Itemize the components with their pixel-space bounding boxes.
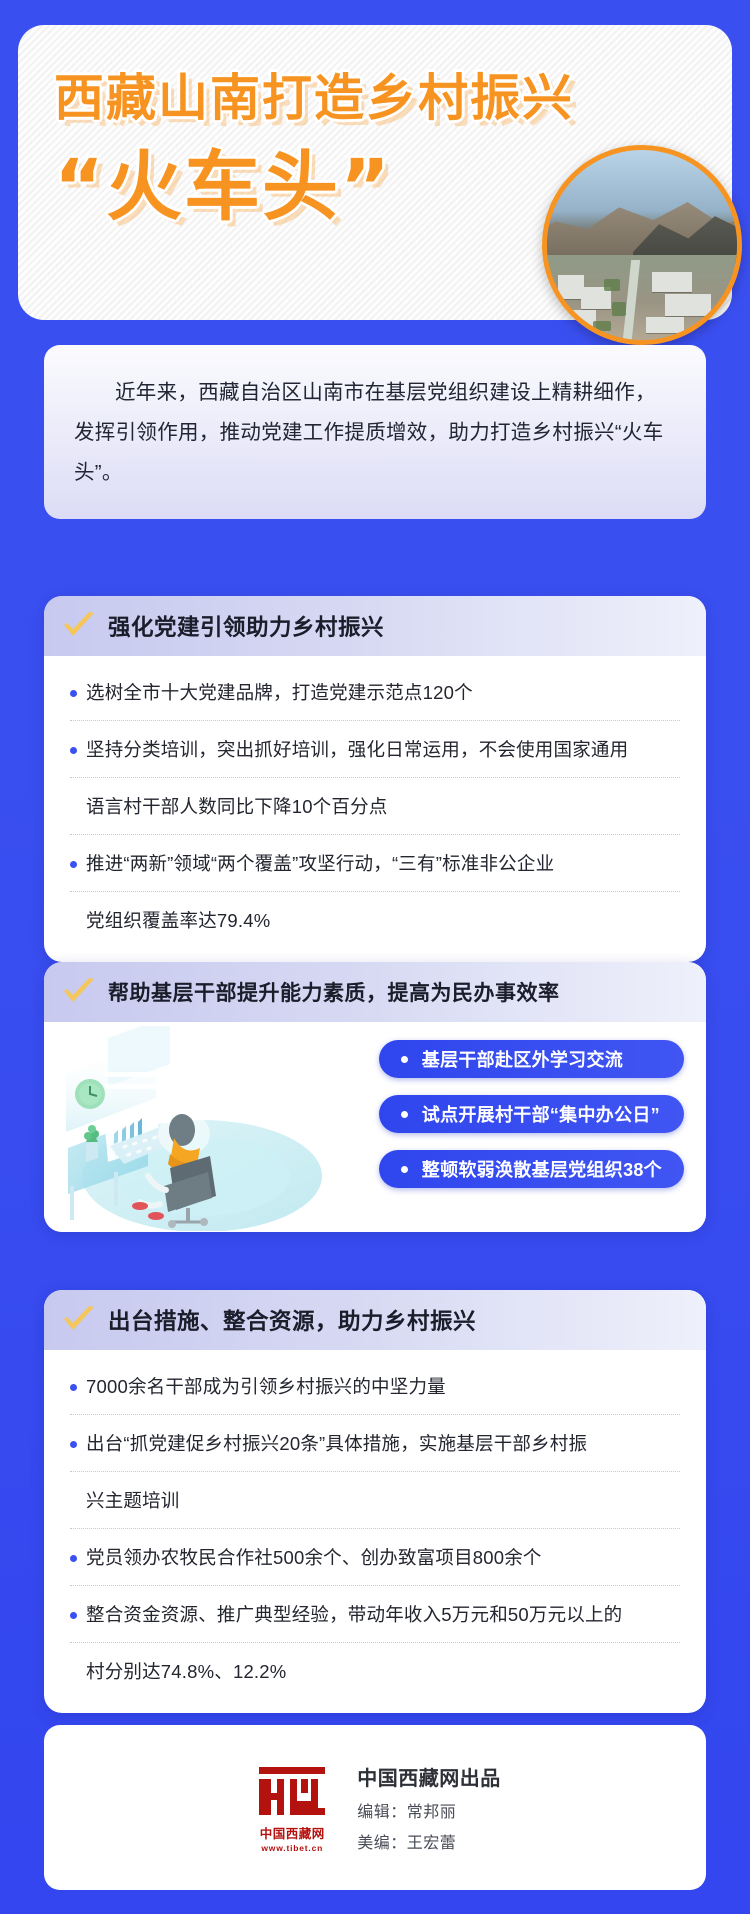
tree-shape: [604, 279, 620, 291]
section-3-header: 出台措施、整合资源，助力乡村振兴: [44, 1290, 706, 1350]
logo-mark-icon: [257, 1763, 327, 1819]
section-1-title: 强化党建引领助力乡村振兴: [108, 610, 384, 642]
section-2-pill-list: 基层干部赴区外学习交流 试点开展村干部“集中办公日” 整顿软弱涣散基层党组织38…: [379, 1040, 684, 1188]
bullet-text: 选树全市十大党建品牌，打造党建示范点120个: [86, 680, 473, 706]
bullet-item: 推进“两新”领域“两个覆盖”攻坚行动，“三有”标准非公企业: [70, 835, 680, 892]
bullet-text: 党组织覆盖率达79.4%: [86, 908, 270, 934]
checkmark-icon: [62, 978, 96, 1006]
section-2-header: 帮助基层干部提升能力素质，提高为民办事效率: [44, 962, 706, 1022]
bullet-text: 兴主题培训: [86, 1488, 180, 1514]
village-photo: [542, 145, 742, 345]
intro-paragraph: 近年来，西藏自治区山南市在基层党组织建设上精耕细作，发挥引领作用，推动党建工作提…: [74, 373, 676, 493]
logo-name-text: 中国西藏网: [249, 1823, 335, 1842]
tibet-net-logo: 中国西藏网 www.tibet.cn: [249, 1763, 335, 1853]
bullet-item: 坚持分类培训，突出抓好培训，强化日常运用，不会使用国家通用: [70, 721, 680, 778]
bullet-text: 党员领办农牧民合作社500余个、创办致富项目800余个: [86, 1545, 542, 1571]
bullet-item: 选树全市十大党建品牌，打造党建示范点120个: [70, 664, 680, 721]
bullet-text: 7000余名干部成为引领乡村振兴的中坚力量: [86, 1374, 446, 1400]
bullet-text: 坚持分类培训，突出抓好培训，强化日常运用，不会使用国家通用: [86, 737, 628, 763]
section-card-1: 强化党建引领助力乡村振兴 选树全市十大党建品牌，打造党建示范点120个 坚持分类…: [44, 596, 706, 962]
bullet-text: 推进“两新”领域“两个覆盖”攻坚行动，“三有”标准非公企业: [86, 851, 554, 877]
pill-dot-icon: [401, 1111, 408, 1118]
bullet-text: 整合资金资源、推广典型经验，带动年收入5万元和50万元以上的: [86, 1602, 622, 1628]
bullet-dot-icon: [70, 1384, 77, 1391]
tree-shape: [593, 321, 611, 331]
bullet-dot-icon: [70, 1555, 77, 1562]
bullet-dot-icon: [70, 861, 77, 868]
pill-dot-icon: [401, 1056, 408, 1063]
pill-item[interactable]: 整顿软弱涣散基层党组织38个: [379, 1150, 684, 1188]
bullet-item: 整合资金资源、推广典型经验，带动年收入5万元和50万元以上的: [70, 1586, 680, 1643]
section-1-body: 选树全市十大党建品牌，打造党建示范点120个 坚持分类培训，突出抓好培训，强化日…: [44, 656, 706, 962]
logo-glyph-icon: [257, 1763, 327, 1819]
pill-item[interactable]: 基层干部赴区外学习交流: [379, 1040, 684, 1078]
checkmark-icon: [62, 1306, 96, 1334]
pill-dot-icon: [401, 1166, 408, 1173]
bullet-item-continuation: 村分别达74.8%、12.2%: [70, 1643, 680, 1699]
logo-url-text: www.tibet.cn: [249, 1843, 335, 1853]
building-shape: [562, 310, 596, 328]
bullet-dot-icon: [70, 1612, 77, 1619]
section-3-title: 出台措施、整合资源，助力乡村振兴: [108, 1304, 476, 1336]
tree-shape: [612, 302, 626, 316]
section-card-2: 帮助基层干部提升能力素质，提高为民办事效率: [44, 962, 706, 1232]
bullet-dot-icon: [70, 1441, 77, 1448]
section-2-body: 基层干部赴区外学习交流 试点开展村干部“集中办公日” 整顿软弱涣散基层党组织38…: [44, 1022, 706, 1232]
bullet-dot-icon: [70, 690, 77, 697]
office-desk-worker-illustration: [52, 1026, 322, 1231]
infographic-poster: 西藏山南打造乡村振兴 “火车头” 近年来，西藏自治区山南市在基层党组织建设上精耕…: [0, 0, 750, 1914]
pill-label: 试点开展村干部“集中办公日”: [422, 1101, 660, 1127]
pill-label: 整顿软弱涣散基层党组织38个: [422, 1156, 662, 1182]
hero-title-line-1: 西藏山南打造乡村振兴: [54, 73, 614, 123]
intro-card: 近年来，西藏自治区山南市在基层党组织建设上精耕细作，发挥引领作用，推动党建工作提…: [44, 345, 706, 519]
hero-title-line-2: “火车头”: [54, 149, 614, 225]
bullet-item-continuation: 语言村干部人数同比下降10个百分点: [70, 778, 680, 835]
section-3-body: 7000余名干部成为引领乡村振兴的中坚力量 出台“抓党建促乡村振兴20条”具体措…: [44, 1350, 706, 1713]
checkmark-icon: [62, 612, 96, 640]
produced-by-text: 中国西藏网出品: [357, 1762, 501, 1791]
section-card-3: 出台措施、整合资源，助力乡村振兴 7000余名干部成为引领乡村振兴的中坚力量 出…: [44, 1290, 706, 1713]
bullet-item: 7000余名干部成为引领乡村振兴的中坚力量: [70, 1358, 680, 1415]
bullet-text: 出台“抓党建促乡村振兴20条”具体措施，实施基层干部乡村振: [86, 1431, 587, 1457]
footer-bar: 中国西藏网 www.tibet.cn 中国西藏网出品 编辑：常邦丽 美编：王宏蕾: [44, 1725, 706, 1890]
building-shape: [665, 294, 711, 316]
section-2-title: 帮助基层干部提升能力素质，提高为民办事效率: [108, 977, 560, 1007]
bullet-item: 出台“抓党建促乡村振兴20条”具体措施，实施基层干部乡村振: [70, 1415, 680, 1472]
pill-item[interactable]: 试点开展村干部“集中办公日”: [379, 1095, 684, 1133]
bullet-dot-icon: [70, 747, 77, 754]
editor-text: 编辑：常邦丽: [357, 1798, 501, 1822]
bullet-text: 村分别达74.8%、12.2%: [86, 1659, 286, 1685]
designer-text: 美编：王宏蕾: [357, 1829, 501, 1853]
section-1-header: 强化党建引领助力乡村振兴: [44, 596, 706, 656]
building-shape: [652, 272, 692, 292]
pill-label: 基层干部赴区外学习交流: [422, 1046, 623, 1072]
bullet-text: 语言村干部人数同比下降10个百分点: [86, 794, 387, 820]
hero-title: 西藏山南打造乡村振兴 “火车头”: [54, 73, 614, 225]
bullet-item-continuation: 兴主题培训: [70, 1472, 680, 1529]
bullet-item-continuation: 党组织覆盖率达79.4%: [70, 892, 680, 948]
building-shape: [646, 317, 684, 333]
footer-credits: 中国西藏网出品 编辑：常邦丽 美编：王宏蕾: [357, 1762, 501, 1853]
bullet-item: 党员领办农牧民合作社500余个、创办致富项目800余个: [70, 1529, 680, 1586]
